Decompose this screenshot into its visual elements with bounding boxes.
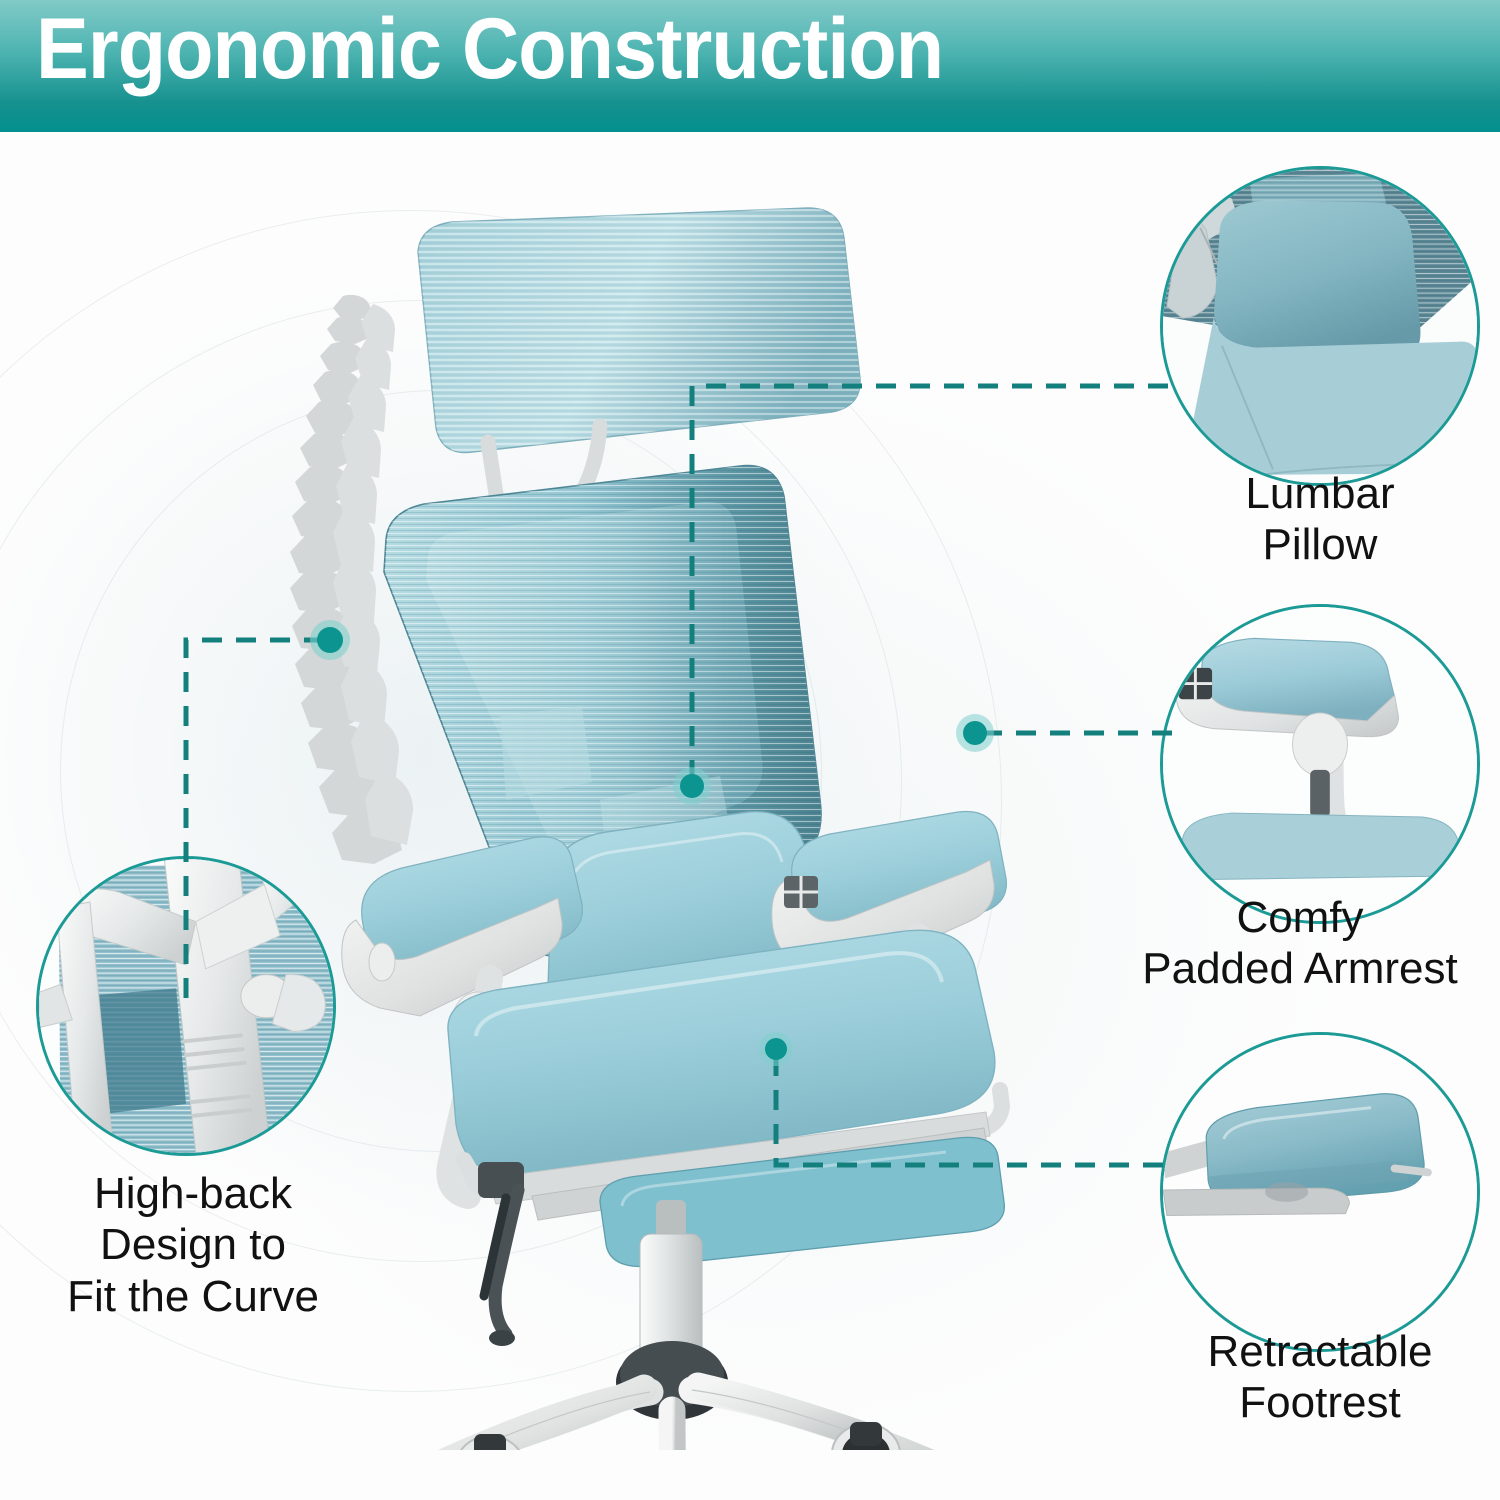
- tilt-lever: [484, 1190, 518, 1346]
- callout-label-lumbar: Lumbar Pillow: [1150, 468, 1490, 571]
- high-back-frame-closeup: [39, 859, 333, 1153]
- retractable-footrest-closeup: [1163, 1035, 1477, 1349]
- callout-label-footrest: Retractable Footrest: [1150, 1326, 1490, 1429]
- callout-circle-armrest: [1160, 604, 1480, 924]
- page-title: Ergonomic Construction: [36, 6, 943, 92]
- chair-headrest: [418, 208, 860, 453]
- callout-circle-footrest: [1160, 1032, 1480, 1352]
- header-banner: Ergonomic Construction: [0, 0, 1500, 132]
- callout-label-highback: High-back Design to Fit the Curve: [38, 1168, 348, 1322]
- callout-circle-highback: [36, 856, 336, 1156]
- infographic-page: Ergonomic Construction: [0, 0, 1500, 1500]
- office-chair-illustration: [300, 160, 1040, 1450]
- padded-armrest-closeup: [1163, 607, 1477, 921]
- lumbar-pillow-closeup: [1163, 169, 1477, 483]
- callout-circle-lumbar: [1160, 166, 1480, 486]
- callout-label-armrest: Comfy Padded Armrest: [1100, 892, 1500, 995]
